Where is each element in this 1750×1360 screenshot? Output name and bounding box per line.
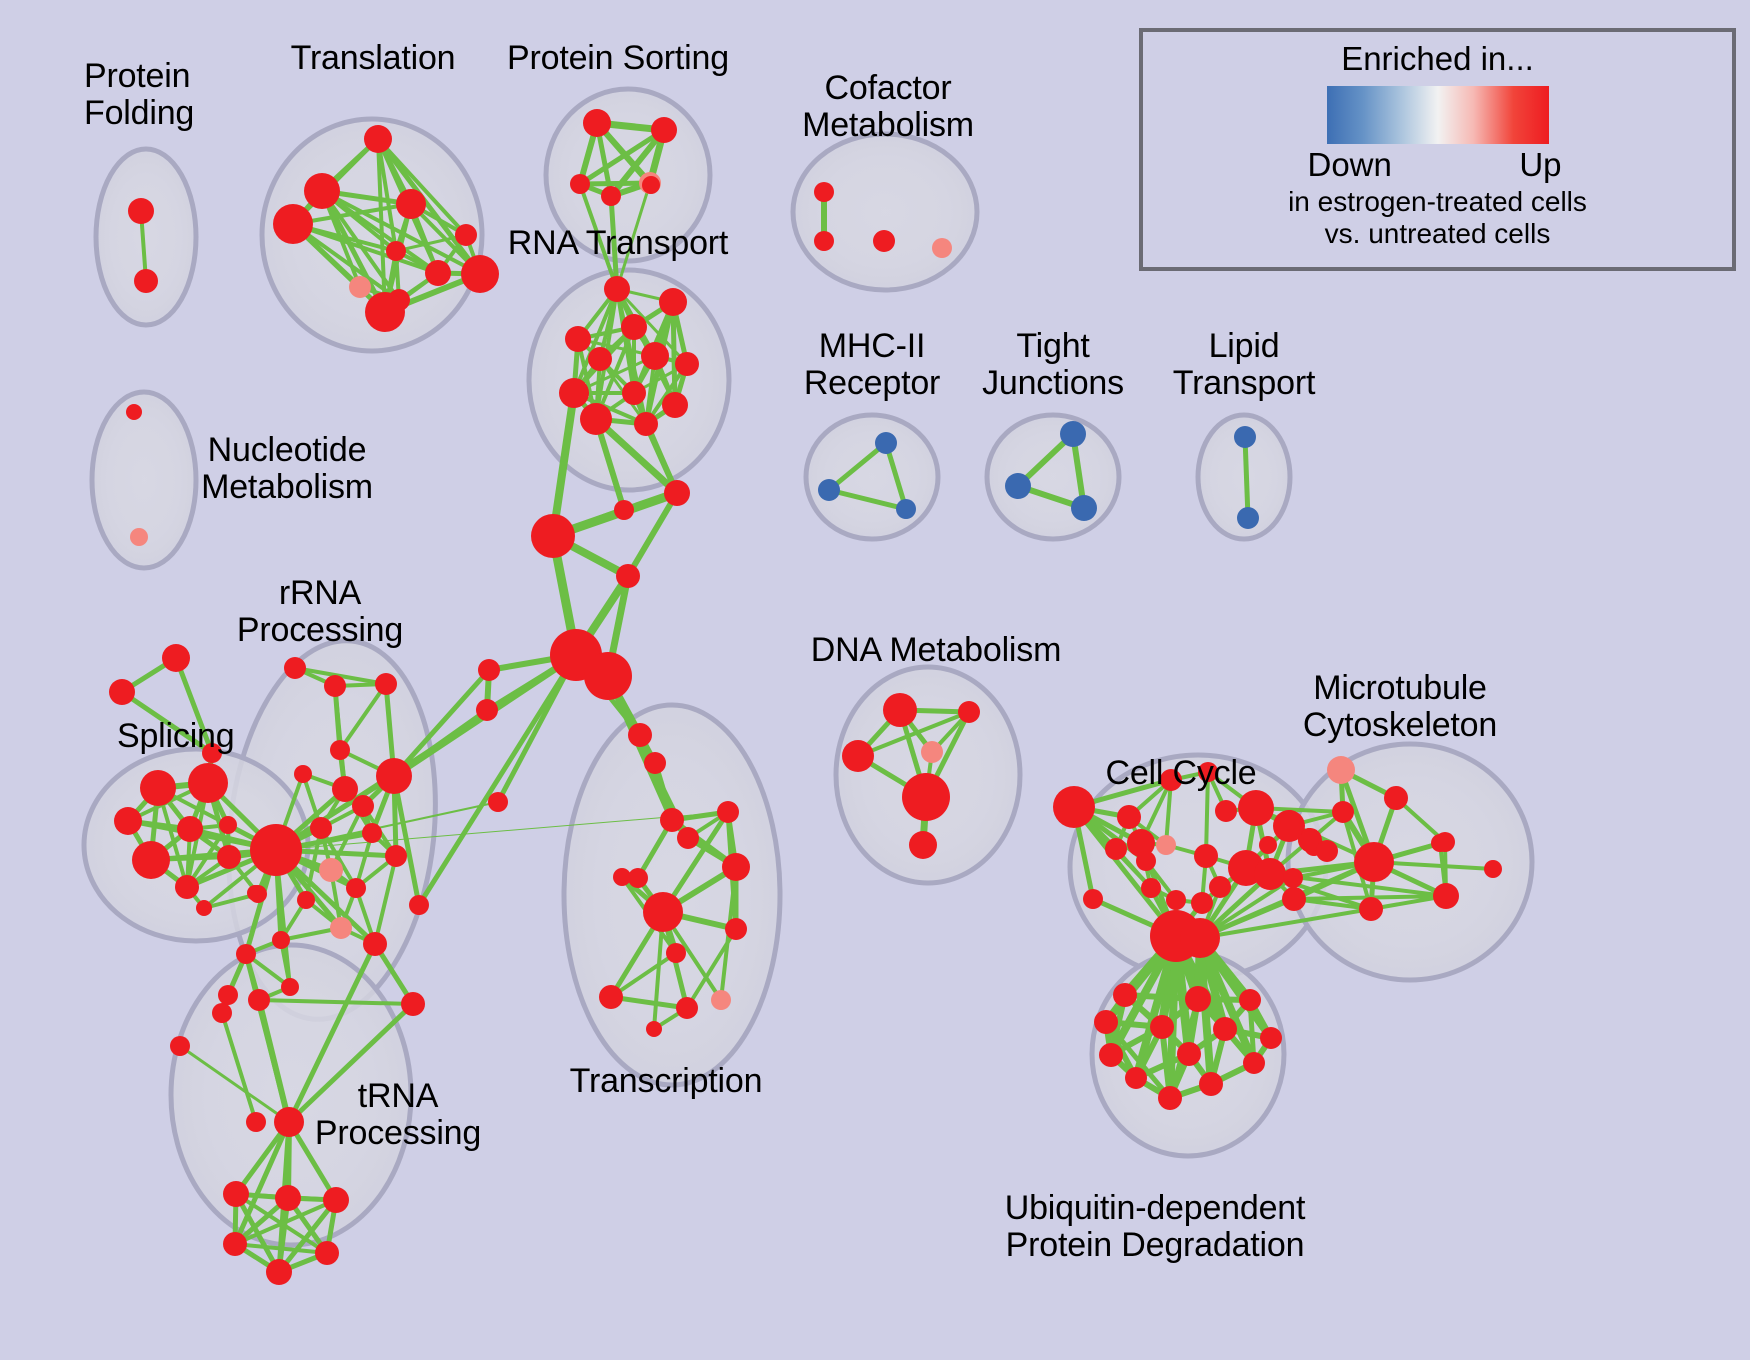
network-node[interactable] (284, 657, 306, 679)
network-node[interactable] (1005, 473, 1031, 499)
network-node[interactable] (1158, 1086, 1182, 1110)
network-node[interactable] (132, 841, 170, 879)
network-node[interactable] (478, 659, 500, 681)
network-node[interactable] (958, 701, 980, 723)
network-node[interactable] (628, 723, 652, 747)
network-node[interactable] (386, 241, 406, 261)
network-node[interactable] (1215, 800, 1237, 822)
network-node[interactable] (349, 276, 371, 298)
network-node[interactable] (1237, 507, 1259, 529)
network-node[interactable] (396, 189, 426, 219)
network-node[interactable] (643, 892, 683, 932)
network-node[interactable] (896, 499, 916, 519)
network-node[interactable] (641, 342, 669, 370)
network-node[interactable] (932, 238, 952, 258)
network-node[interactable] (1384, 786, 1408, 810)
network-node[interactable] (223, 1181, 249, 1207)
network-node[interactable] (622, 381, 646, 405)
network-node[interactable] (330, 917, 352, 939)
network-node[interactable] (559, 378, 589, 408)
network-node[interactable] (883, 693, 917, 727)
legend-endpoints: Down Up (1308, 146, 1568, 186)
network-node[interactable] (401, 992, 425, 1016)
legend-caption-line-1: in estrogen-treated cells (1143, 186, 1732, 218)
network-node[interactable] (223, 1232, 247, 1256)
network-node[interactable] (1433, 883, 1459, 909)
network-node[interactable] (246, 1112, 266, 1132)
network-node[interactable] (476, 699, 498, 721)
network-node[interactable] (570, 174, 590, 194)
network-node[interactable] (455, 224, 477, 246)
network-node[interactable] (1282, 887, 1306, 911)
network-node[interactable] (818, 479, 840, 501)
network-node[interactable] (346, 878, 366, 898)
network-node[interactable] (1166, 890, 1186, 910)
cluster-label-translation: Translation (291, 40, 456, 77)
legend-color-bar (1327, 86, 1549, 144)
network-node[interactable] (297, 891, 315, 909)
network-node[interactable] (604, 276, 630, 302)
network-node[interactable] (175, 875, 199, 899)
network-node[interactable] (909, 831, 937, 859)
network-node[interactable] (212, 1003, 232, 1023)
network-node[interactable] (1180, 918, 1220, 958)
network-node[interactable] (634, 412, 658, 436)
network-node[interactable] (660, 808, 684, 832)
network-node[interactable] (1234, 426, 1256, 448)
network-node[interactable] (281, 978, 299, 996)
hull-cofactor-metabolism (793, 134, 977, 290)
network-edge (673, 302, 675, 405)
network-node[interactable] (1327, 756, 1355, 784)
network-node[interactable] (614, 500, 634, 520)
network-node[interactable] (666, 943, 686, 963)
network-node[interactable] (247, 885, 263, 901)
network-node[interactable] (1060, 421, 1086, 447)
network-node[interactable] (1125, 1067, 1147, 1089)
network-node[interactable] (275, 1185, 301, 1211)
network-node[interactable] (1316, 840, 1338, 862)
network-node[interactable] (921, 741, 943, 763)
cluster-label-lipid-transport: Lipid Transport (1173, 328, 1315, 401)
network-node[interactable] (364, 125, 392, 153)
network-node[interactable] (1243, 1052, 1265, 1074)
network-node[interactable] (128, 198, 154, 224)
network-node[interactable] (1053, 786, 1095, 828)
network-node[interactable] (177, 816, 203, 842)
cluster-label-transcription: Transcription (570, 1063, 763, 1100)
network-node[interactable] (613, 868, 631, 886)
network-node[interactable] (875, 432, 897, 454)
network-node[interactable] (352, 795, 374, 817)
network-node[interactable] (196, 900, 212, 916)
network-node[interactable] (1484, 860, 1502, 878)
network-node[interactable] (1354, 842, 1394, 882)
network-node[interactable] (675, 352, 699, 376)
network-node[interactable] (1260, 1027, 1282, 1049)
network-node[interactable] (659, 288, 687, 316)
network-node[interactable] (236, 944, 256, 964)
network-node[interactable] (717, 801, 739, 823)
network-node[interactable] (1113, 983, 1137, 1007)
network-node[interactable] (1150, 1015, 1174, 1039)
network-node[interactable] (319, 858, 343, 882)
network-node[interactable] (642, 176, 660, 194)
network-node[interactable] (1213, 1017, 1237, 1041)
network-node[interactable] (323, 1187, 349, 1213)
cluster-label-splicing: Splicing (117, 718, 234, 755)
network-node[interactable] (1299, 831, 1319, 851)
legend: Enriched in... Down Up in estrogen-treat… (1139, 28, 1736, 271)
network-node[interactable] (188, 763, 228, 803)
cluster-label-protein-folding: Protein Folding (84, 58, 194, 131)
network-node[interactable] (461, 255, 499, 293)
network-node[interactable] (1185, 986, 1211, 1012)
hull-protein-folding (96, 149, 196, 325)
network-node[interactable] (332, 776, 358, 802)
network-node[interactable] (1141, 878, 1161, 898)
network-node[interactable] (1194, 844, 1218, 868)
network-node[interactable] (599, 985, 623, 1009)
network-node[interactable] (842, 740, 874, 772)
network-node[interactable] (376, 758, 412, 794)
network-node[interactable] (1105, 838, 1127, 860)
network-node[interactable] (584, 652, 632, 700)
network-node[interactable] (134, 269, 158, 293)
network-node[interactable] (218, 985, 238, 1005)
cluster-label-nucleotide-metabolism: Nucleotide Metabolism (201, 432, 373, 505)
cluster-label-tight-junctions: Tight Junctions (982, 328, 1124, 401)
network-node[interactable] (250, 824, 302, 876)
legend-down-label: Down (1308, 146, 1392, 184)
network-node[interactable] (248, 989, 270, 1011)
cluster-label-protein-sorting: Protein Sorting (507, 40, 729, 77)
network-node[interactable] (130, 528, 148, 546)
network-node[interactable] (310, 817, 332, 839)
network-node[interactable] (1431, 834, 1449, 852)
network-node[interactable] (1156, 835, 1176, 855)
network-node[interactable] (1136, 851, 1156, 871)
network-node[interactable] (664, 480, 690, 506)
network-node[interactable] (315, 1241, 339, 1265)
network-node[interactable] (601, 186, 621, 206)
network-node[interactable] (580, 403, 612, 435)
network-node[interactable] (1254, 858, 1286, 890)
cluster-label-rna-transport: RNA Transport (508, 225, 728, 262)
cluster-label-cell-cycle: Cell Cycle (1105, 755, 1256, 792)
network-node[interactable] (722, 853, 750, 881)
network-node[interactable] (644, 752, 666, 774)
network-node[interactable] (274, 1107, 304, 1137)
network-node[interactable] (162, 644, 190, 672)
network-node[interactable] (1177, 1042, 1201, 1066)
cluster-label-trna-processing: tRNA Processing (315, 1078, 481, 1151)
network-node[interactable] (814, 231, 834, 251)
network-node[interactable] (1071, 495, 1097, 521)
network-node[interactable] (1280, 810, 1300, 830)
cluster-label-rrna-processing: rRNA Processing (237, 575, 403, 648)
network-node[interactable] (304, 173, 340, 209)
network-node[interactable] (1209, 876, 1231, 898)
network-node[interactable] (330, 740, 350, 760)
network-node[interactable] (725, 918, 747, 940)
network-node[interactable] (375, 673, 397, 695)
network-node[interactable] (385, 845, 407, 867)
network-node[interactable] (1239, 989, 1261, 1011)
network-node[interactable] (677, 827, 699, 849)
network-node[interactable] (1359, 897, 1383, 921)
legend-title: Enriched in... (1143, 40, 1732, 78)
network-node[interactable] (565, 326, 591, 352)
network-node[interactable] (616, 564, 640, 588)
network-node[interactable] (588, 347, 612, 371)
network-node[interactable] (272, 931, 290, 949)
network-node[interactable] (294, 765, 312, 783)
network-node[interactable] (651, 117, 677, 143)
network-node[interactable] (409, 895, 429, 915)
network-node[interactable] (425, 260, 451, 286)
legend-caption-line-2: vs. untreated cells (1143, 218, 1732, 250)
cluster-label-mhc-ii-receptor: MHC-II Receptor (804, 328, 940, 401)
network-node[interactable] (126, 404, 142, 420)
legend-up-label: Up (1519, 146, 1561, 184)
cluster-label-cofactor-metabolism: Cofactor Metabolism (802, 70, 974, 143)
network-node[interactable] (711, 990, 731, 1010)
network-node[interactable] (1199, 1072, 1223, 1096)
network-node[interactable] (1083, 889, 1103, 909)
cluster-label-ubiquitin-degradation: Ubiquitin-dependent Protein Degradation (1005, 1190, 1306, 1263)
network-node[interactable] (814, 182, 834, 202)
network-node[interactable] (583, 109, 611, 137)
cluster-label-microtubule-cytoskeleton: Microtubule Cytoskeleton (1303, 670, 1497, 743)
network-node[interactable] (1094, 1010, 1118, 1034)
cluster-label-dna-metabolism: DNA Metabolism (811, 632, 1061, 669)
network-node[interactable] (219, 816, 237, 834)
network-node[interactable] (365, 292, 405, 332)
network-node[interactable] (266, 1259, 292, 1285)
hull-tight-junctions (987, 415, 1119, 539)
network-node[interactable] (1332, 801, 1354, 823)
network-node[interactable] (362, 823, 382, 843)
network-node[interactable] (114, 807, 142, 835)
network-node[interactable] (1117, 805, 1141, 829)
network-node[interactable] (109, 679, 135, 705)
network-node[interactable] (140, 770, 176, 806)
network-figure: Protein FoldingTranslationProtein Sortin… (0, 0, 1750, 1360)
network-node[interactable] (363, 932, 387, 956)
network-node[interactable] (170, 1036, 190, 1056)
hull-mhc-ii (806, 415, 938, 539)
network-node[interactable] (1191, 892, 1213, 914)
network-node[interactable] (531, 514, 575, 558)
network-node[interactable] (1283, 868, 1303, 888)
network-node[interactable] (217, 845, 241, 869)
network-node[interactable] (273, 204, 313, 244)
network-node[interactable] (1099, 1043, 1123, 1067)
network-node[interactable] (621, 314, 647, 340)
network-node[interactable] (324, 675, 346, 697)
network-node[interactable] (488, 792, 508, 812)
network-node[interactable] (873, 230, 895, 252)
network-node[interactable] (676, 997, 698, 1019)
network-edge (1245, 437, 1248, 518)
network-node[interactable] (1238, 790, 1274, 826)
network-node[interactable] (902, 773, 950, 821)
network-node[interactable] (628, 868, 648, 888)
network-node[interactable] (662, 392, 688, 418)
network-node[interactable] (1259, 836, 1277, 854)
network-node[interactable] (646, 1021, 662, 1037)
